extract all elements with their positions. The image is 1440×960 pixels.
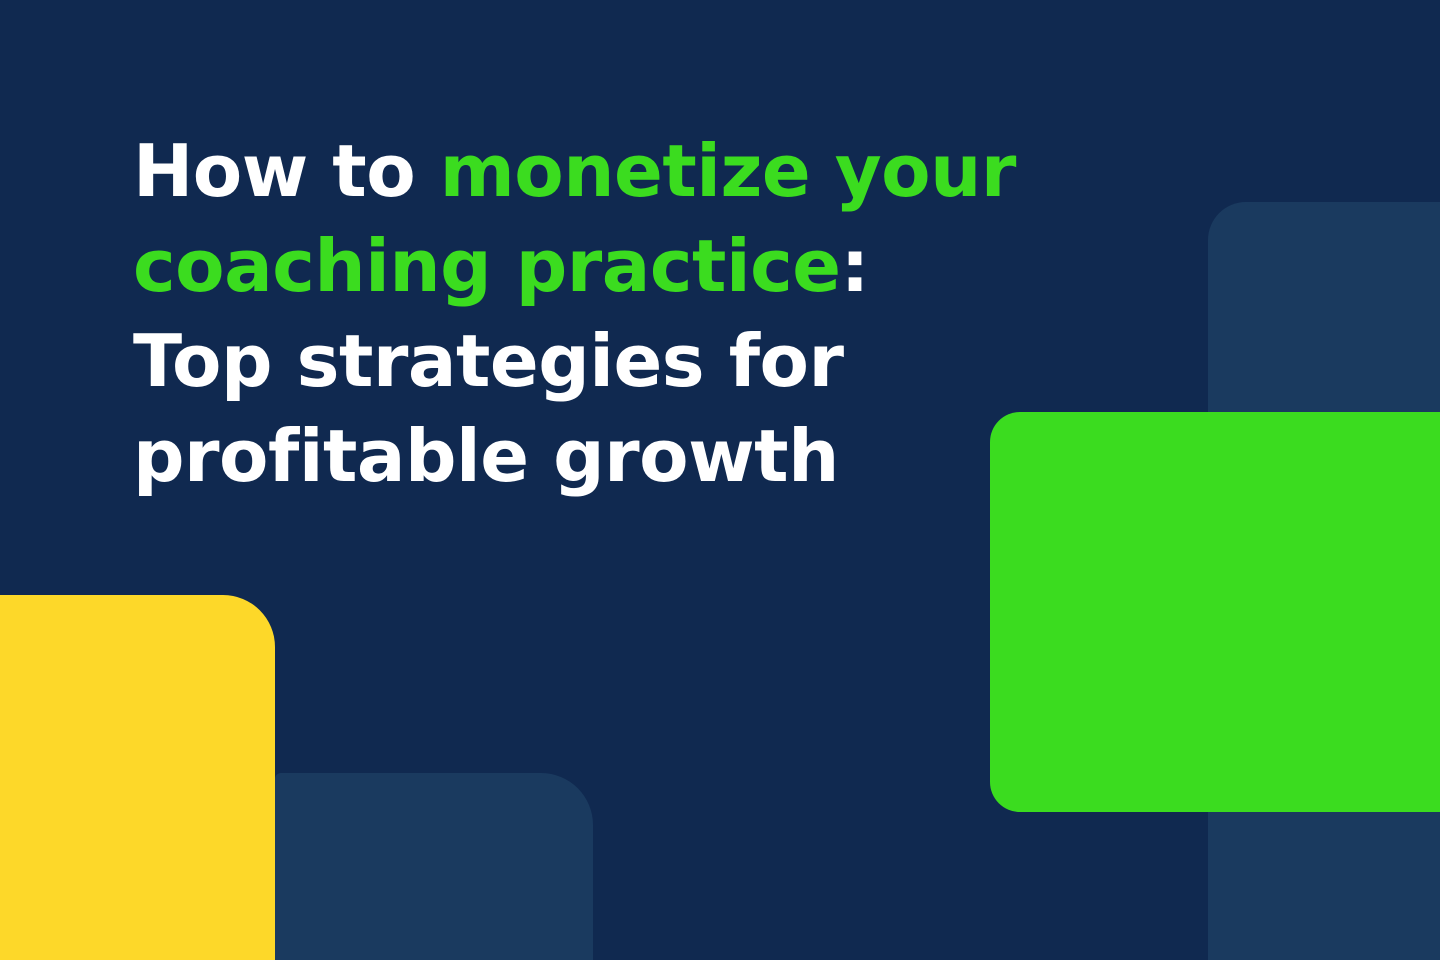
decorative-yellow-panel: [0, 595, 275, 960]
headline-line-2-green: coaching practice: [133, 224, 841, 308]
headline-line-4: profitable growth: [133, 409, 1093, 504]
headline-line-2-colon: :: [841, 224, 869, 308]
page-title: How to monetize your coaching practice: …: [133, 124, 1093, 504]
decorative-navy-panel-bottom-left: [275, 773, 593, 960]
decorative-navy-panel-right: [1208, 202, 1440, 960]
headline-line-1: How to monetize your: [133, 124, 1093, 219]
headline-line-2: coaching practice:: [133, 219, 1093, 314]
headline-line-1-white: How to: [133, 129, 440, 213]
headline-line-1-green: monetize your: [440, 129, 1016, 213]
cover-canvas: How to monetize your coaching practice: …: [0, 0, 1440, 960]
headline-line-3: Top strategies for: [133, 314, 1093, 409]
